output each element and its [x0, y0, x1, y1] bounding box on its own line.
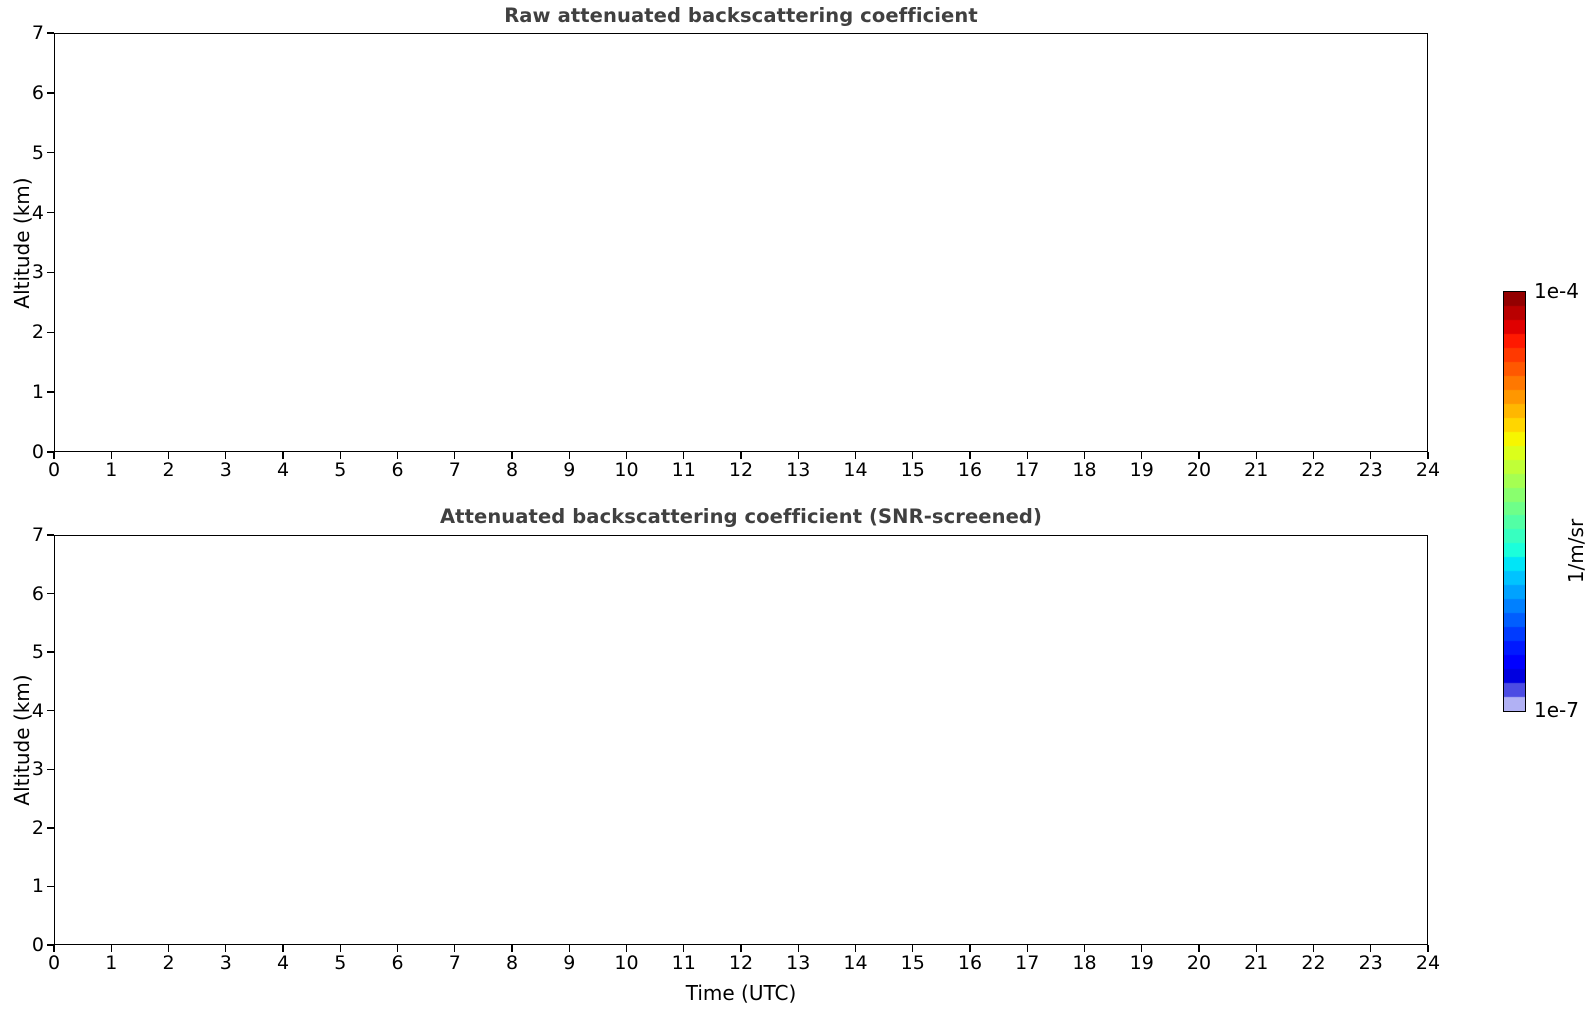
x-tick-raw-8 — [511, 452, 512, 459]
x-tick-screened-5 — [340, 945, 341, 952]
x-ticklabel-screened-17: 17 — [1015, 952, 1039, 974]
x-ticklabel-screened-10: 10 — [614, 952, 638, 974]
x-tick-raw-12 — [740, 452, 741, 459]
x-ticklabel-screened-8: 8 — [506, 952, 518, 974]
y-tick-screened-4 — [47, 710, 54, 711]
x-tick-screened-14 — [855, 945, 856, 952]
x-tick-screened-1 — [111, 945, 112, 952]
x-ticklabel-screened-23: 23 — [1359, 952, 1383, 974]
x-tick-screened-4 — [282, 945, 283, 952]
y-ticklabel-screened-1: 1 — [14, 875, 44, 897]
x-tick-screened-3 — [225, 945, 226, 952]
x-tick-screened-2 — [168, 945, 169, 952]
x-ticklabel-raw-19: 19 — [1130, 459, 1154, 481]
x-ticklabel-screened-19: 19 — [1130, 952, 1154, 974]
x-tick-screened-20 — [1198, 945, 1199, 952]
x-ticklabel-screened-18: 18 — [1072, 952, 1096, 974]
x-ticklabel-raw-21: 21 — [1244, 459, 1268, 481]
x-ticklabel-raw-12: 12 — [729, 459, 753, 481]
x-ticklabel-raw-4: 4 — [277, 459, 289, 481]
x-ticklabel-screened-4: 4 — [277, 952, 289, 974]
x-tick-raw-14 — [855, 452, 856, 459]
y-ticklabel-raw-6: 6 — [14, 82, 44, 104]
x-ticklabel-raw-20: 20 — [1187, 459, 1211, 481]
x-tick-raw-10 — [626, 452, 627, 459]
x-ticklabel-raw-7: 7 — [449, 459, 461, 481]
x-tick-raw-18 — [1084, 452, 1085, 459]
y-tick-raw-4 — [47, 212, 54, 213]
x-ticklabel-screened-6: 6 — [391, 952, 403, 974]
y-tick-raw-7 — [47, 32, 54, 33]
lidar-figure: Raw attenuated backscattering coefficien… — [0, 0, 1595, 1020]
x-tick-screened-12 — [740, 945, 741, 952]
x-ticklabel-raw-18: 18 — [1072, 459, 1096, 481]
x-tick-screened-6 — [397, 945, 398, 952]
y-ticklabel-raw-2: 2 — [14, 321, 44, 343]
y-tick-raw-2 — [47, 332, 54, 333]
x-ticklabel-screened-15: 15 — [901, 952, 925, 974]
x-ticklabel-screened-24: 24 — [1416, 952, 1440, 974]
x-ticklabel-screened-20: 20 — [1187, 952, 1211, 974]
x-tick-raw-20 — [1198, 452, 1199, 459]
x-tick-screened-11 — [683, 945, 684, 952]
y-ticklabel-screened-6: 6 — [14, 583, 44, 605]
x-tick-raw-15 — [912, 452, 913, 459]
y-ticklabel-screened-0: 0 — [14, 934, 44, 956]
x-tick-raw-0 — [53, 452, 54, 459]
x-ticklabel-raw-17: 17 — [1015, 459, 1039, 481]
x-ticklabel-raw-14: 14 — [843, 459, 867, 481]
y-ticklabel-raw-0: 0 — [14, 441, 44, 463]
panel-title-screened: Attenuated backscattering coefficient (S… — [54, 505, 1428, 528]
x-ticklabel-raw-9: 9 — [563, 459, 575, 481]
y-ticklabel-raw-5: 5 — [14, 142, 44, 164]
x-ticklabel-screened-12: 12 — [729, 952, 753, 974]
x-ticklabel-raw-15: 15 — [901, 459, 925, 481]
x-ticklabel-screened-1: 1 — [105, 952, 117, 974]
x-ticklabel-screened-5: 5 — [334, 952, 346, 974]
x-tick-screened-13 — [798, 945, 799, 952]
y-tick-raw-5 — [47, 152, 54, 153]
x-ticklabel-screened-9: 9 — [563, 952, 575, 974]
y-tick-raw-1 — [47, 391, 54, 392]
x-tick-raw-17 — [1027, 452, 1028, 459]
y-ticklabel-screened-2: 2 — [14, 817, 44, 839]
panel-title-raw: Raw attenuated backscattering coefficien… — [54, 4, 1428, 27]
x-ticklabel-raw-16: 16 — [958, 459, 982, 481]
colorbar — [1503, 291, 1526, 712]
x-tick-raw-9 — [569, 452, 570, 459]
x-tick-raw-23 — [1370, 452, 1371, 459]
axes-frame-screened — [54, 535, 1428, 945]
panel-raw — [54, 33, 1428, 452]
x-ticklabel-screened-22: 22 — [1301, 952, 1325, 974]
x-tick-raw-5 — [340, 452, 341, 459]
x-ticklabel-raw-5: 5 — [334, 459, 346, 481]
x-ticklabel-screened-21: 21 — [1244, 952, 1268, 974]
x-tick-raw-24 — [1427, 452, 1428, 459]
x-ticklabel-raw-8: 8 — [506, 459, 518, 481]
x-ticklabel-raw-22: 22 — [1301, 459, 1325, 481]
x-tick-raw-4 — [282, 452, 283, 459]
x-axis-label-time: Time (UTC) — [686, 981, 797, 1005]
colorbar-gradient — [1503, 291, 1526, 712]
x-tick-screened-19 — [1141, 945, 1142, 952]
x-tick-screened-9 — [569, 945, 570, 952]
x-tick-screened-7 — [454, 945, 455, 952]
x-ticklabel-screened-16: 16 — [958, 952, 982, 974]
x-ticklabel-raw-13: 13 — [786, 459, 810, 481]
x-ticklabel-raw-1: 1 — [105, 459, 117, 481]
x-tick-raw-22 — [1313, 452, 1314, 459]
x-tick-screened-0 — [53, 945, 54, 952]
y-ticklabel-raw-1: 1 — [14, 381, 44, 403]
x-tick-raw-11 — [683, 452, 684, 459]
y-tick-screened-5 — [47, 651, 54, 652]
x-tick-screened-18 — [1084, 945, 1085, 952]
y-ticklabel-screened-5: 5 — [14, 641, 44, 663]
x-tick-raw-16 — [969, 452, 970, 459]
x-ticklabel-screened-3: 3 — [220, 952, 232, 974]
x-tick-raw-2 — [168, 452, 169, 459]
x-ticklabel-raw-10: 10 — [614, 459, 638, 481]
y-tick-screened-7 — [47, 534, 54, 535]
y-tick-raw-3 — [47, 272, 54, 273]
colorbar-max-label: 1e-4 — [1534, 279, 1579, 303]
x-tick-raw-3 — [225, 452, 226, 459]
x-ticklabel-raw-24: 24 — [1416, 459, 1440, 481]
x-ticklabel-raw-2: 2 — [162, 459, 174, 481]
x-tick-raw-19 — [1141, 452, 1142, 459]
y-axis-label-screened: Altitude (km) — [10, 674, 34, 805]
x-tick-raw-21 — [1256, 452, 1257, 459]
y-ticklabel-raw-3: 3 — [14, 261, 44, 283]
x-tick-raw-7 — [454, 452, 455, 459]
x-ticklabel-raw-11: 11 — [672, 459, 696, 481]
x-ticklabel-screened-14: 14 — [843, 952, 867, 974]
colorbar-unit-label: 1/m/sr — [1564, 519, 1588, 583]
x-tick-screened-22 — [1313, 945, 1314, 952]
y-ticklabel-screened-3: 3 — [14, 758, 44, 780]
x-ticklabel-raw-6: 6 — [391, 459, 403, 481]
x-tick-screened-24 — [1427, 945, 1428, 952]
x-tick-raw-13 — [798, 452, 799, 459]
x-ticklabel-raw-0: 0 — [48, 459, 60, 481]
x-tick-screened-8 — [511, 945, 512, 952]
x-ticklabel-screened-7: 7 — [449, 952, 461, 974]
x-tick-raw-6 — [397, 452, 398, 459]
x-tick-screened-21 — [1256, 945, 1257, 952]
x-tick-screened-23 — [1370, 945, 1371, 952]
x-ticklabel-raw-23: 23 — [1359, 459, 1383, 481]
x-tick-screened-17 — [1027, 945, 1028, 952]
x-ticklabel-raw-3: 3 — [220, 459, 232, 481]
y-axis-label-raw: Altitude (km) — [10, 177, 34, 308]
colorbar-min-label: 1e-7 — [1534, 698, 1579, 722]
axes-frame-raw — [54, 33, 1428, 452]
x-tick-raw-1 — [111, 452, 112, 459]
y-ticklabel-raw-4: 4 — [14, 202, 44, 224]
x-tick-screened-10 — [626, 945, 627, 952]
y-tick-screened-2 — [47, 827, 54, 828]
x-ticklabel-screened-0: 0 — [48, 952, 60, 974]
y-tick-screened-3 — [47, 769, 54, 770]
y-ticklabel-raw-7: 7 — [14, 22, 44, 44]
x-ticklabel-screened-11: 11 — [672, 952, 696, 974]
x-tick-screened-15 — [912, 945, 913, 952]
x-ticklabel-screened-2: 2 — [162, 952, 174, 974]
x-ticklabel-screened-13: 13 — [786, 952, 810, 974]
y-tick-screened-1 — [47, 886, 54, 887]
x-tick-screened-16 — [969, 945, 970, 952]
y-tick-raw-6 — [47, 92, 54, 93]
y-tick-screened-6 — [47, 593, 54, 594]
y-ticklabel-screened-4: 4 — [14, 700, 44, 722]
y-ticklabel-screened-7: 7 — [14, 524, 44, 546]
panel-screened — [54, 535, 1428, 945]
